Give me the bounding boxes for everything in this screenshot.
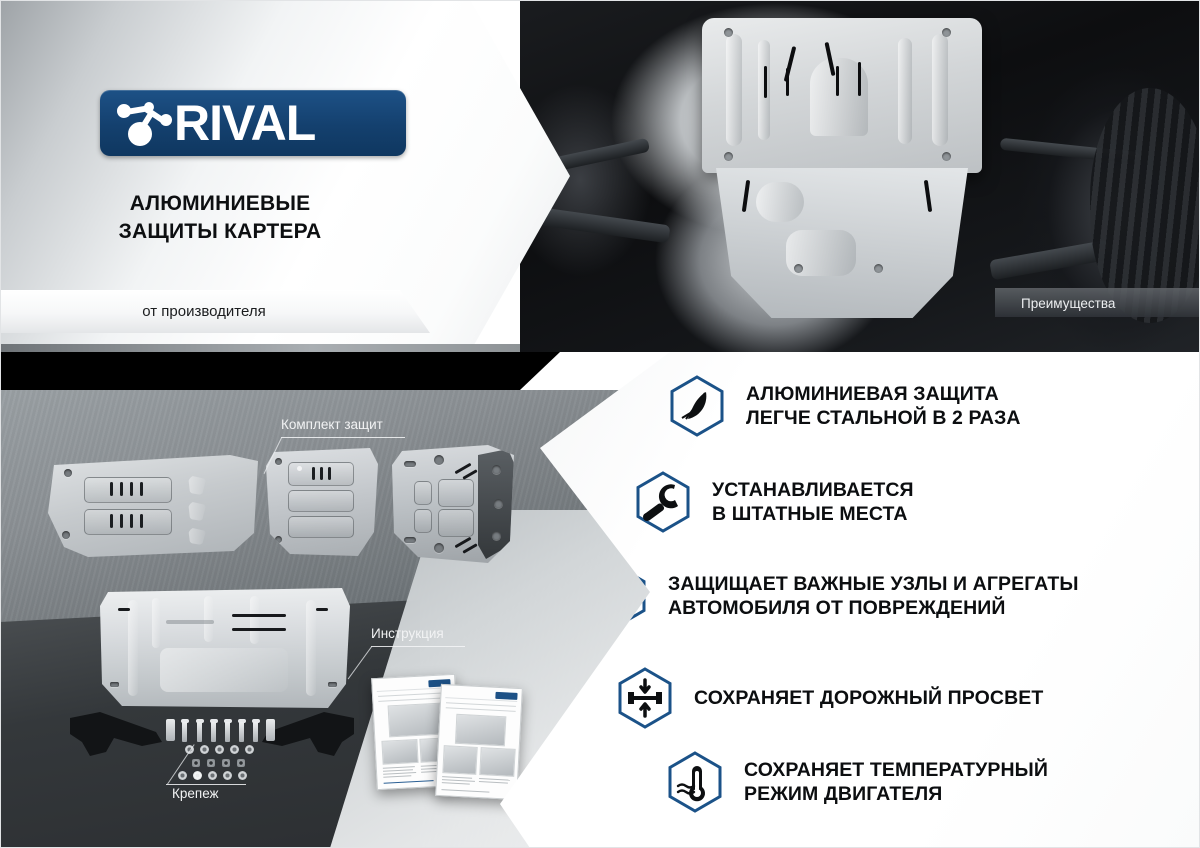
feature-item-3: СОХРАНЯЕТ ДОРОЖНЫЙ ПРОСВЕТ (616, 666, 1043, 730)
feature-2-line1: ЗАЩИЩАЕТ ВАЖНЫЕ УЗЛЫ И АГРЕГАТЫ (668, 572, 1079, 596)
wrench-icon (634, 470, 692, 534)
undercar-photo: Преимущества (520, 0, 1200, 352)
installed-skid-plate-lower (716, 168, 968, 318)
page-title: АЛЮМИНИЕВЫЕ ЗАЩИТЫ КАРТЕРА (0, 190, 440, 245)
main-skid-plate (100, 588, 350, 708)
divider-black-band (0, 352, 560, 390)
feature-4-line2: РЕЖИМ ДВИГАТЕЛЯ (744, 782, 1048, 806)
rival-logo-text: RIVAL (174, 98, 315, 148)
feature-1-line2: В ШТАТНЫЕ МЕСТА (712, 502, 914, 526)
advantages-tag-label: Преимущества (1021, 296, 1115, 311)
feature-0-line1: АЛЮМИНИЕВАЯ ЗАЩИТА (746, 382, 1021, 406)
skid-plate-right (392, 445, 514, 563)
instruction-sheet-2 (435, 684, 523, 800)
leaf-icon (668, 374, 726, 438)
promo-banner: Преимущества (0, 0, 1200, 848)
feature-item-1: УСТАНАВЛИВАЕТСЯ В ШТАТНЫЕ МЕСТА (634, 470, 914, 534)
skid-plate-center (266, 448, 378, 556)
feature-3-line1: СОХРАНЯЕТ ДОРОЖНЫЙ ПРОСВЕТ (694, 686, 1043, 710)
feature-item-0: АЛЮМИНИЕВАЯ ЗАЩИТА ЛЕГЧЕ СТАЛЬНОЙ В 2 РА… (668, 374, 1021, 438)
sheet-rival-logo-2 (495, 692, 517, 700)
ground-clearance-icon (616, 666, 674, 730)
hero-panel: RIVAL АЛЮМИНИЕВЫЕ ЗАЩИТЫ КАРТЕРА от прои… (0, 0, 570, 352)
hero-title-line1: АЛЮМИНИЕВЫЕ (0, 190, 440, 218)
advantages-tag: Преимущества (995, 288, 1200, 317)
molecule-icon (114, 96, 176, 150)
callout-kit-rule (281, 437, 405, 438)
callout-kit-label: Комплект защит (281, 417, 383, 432)
installed-skid-plate-upper (702, 18, 982, 173)
callout-instruction-rule (371, 646, 465, 647)
callout-kit-dot (297, 466, 302, 471)
hero-subtitle: от производителя (142, 303, 265, 320)
callout-hardware-rule (166, 784, 246, 785)
skid-plate-left (48, 455, 258, 557)
hero-title-line2: ЗАЩИТЫ КАРТЕРА (0, 218, 440, 246)
feature-4-line1: СОХРАНЯЕТ ТЕМПЕРАТУРНЫЙ (744, 758, 1048, 782)
thermometer-icon (666, 750, 724, 814)
hero-subtitle-band: от производителя (0, 290, 430, 333)
rival-logo: RIVAL (100, 90, 406, 156)
feature-2-line2: АВТОМОБИЛЯ ОТ ПОВРЕЖДЕНИЙ (668, 596, 1079, 620)
feature-item-4: СОХРАНЯЕТ ТЕМПЕРАТУРНЫЙ РЕЖИМ ДВИГАТЕЛЯ (666, 750, 1048, 814)
callout-instruction-label: Инструкция (371, 626, 444, 641)
callout-hardware-label: Крепеж (172, 786, 219, 801)
feature-item-2: ЗАЩИЩАЕТ ВАЖНЫЕ УЗЛЫ И АГРЕГАТЫ АВТОМОБИ… (590, 564, 1079, 628)
feature-0-line2: ЛЕГЧЕ СТАЛЬНОЙ В 2 РАЗА (746, 406, 1021, 430)
feature-1-line1: УСТАНАВЛИВАЕТСЯ (712, 478, 914, 502)
